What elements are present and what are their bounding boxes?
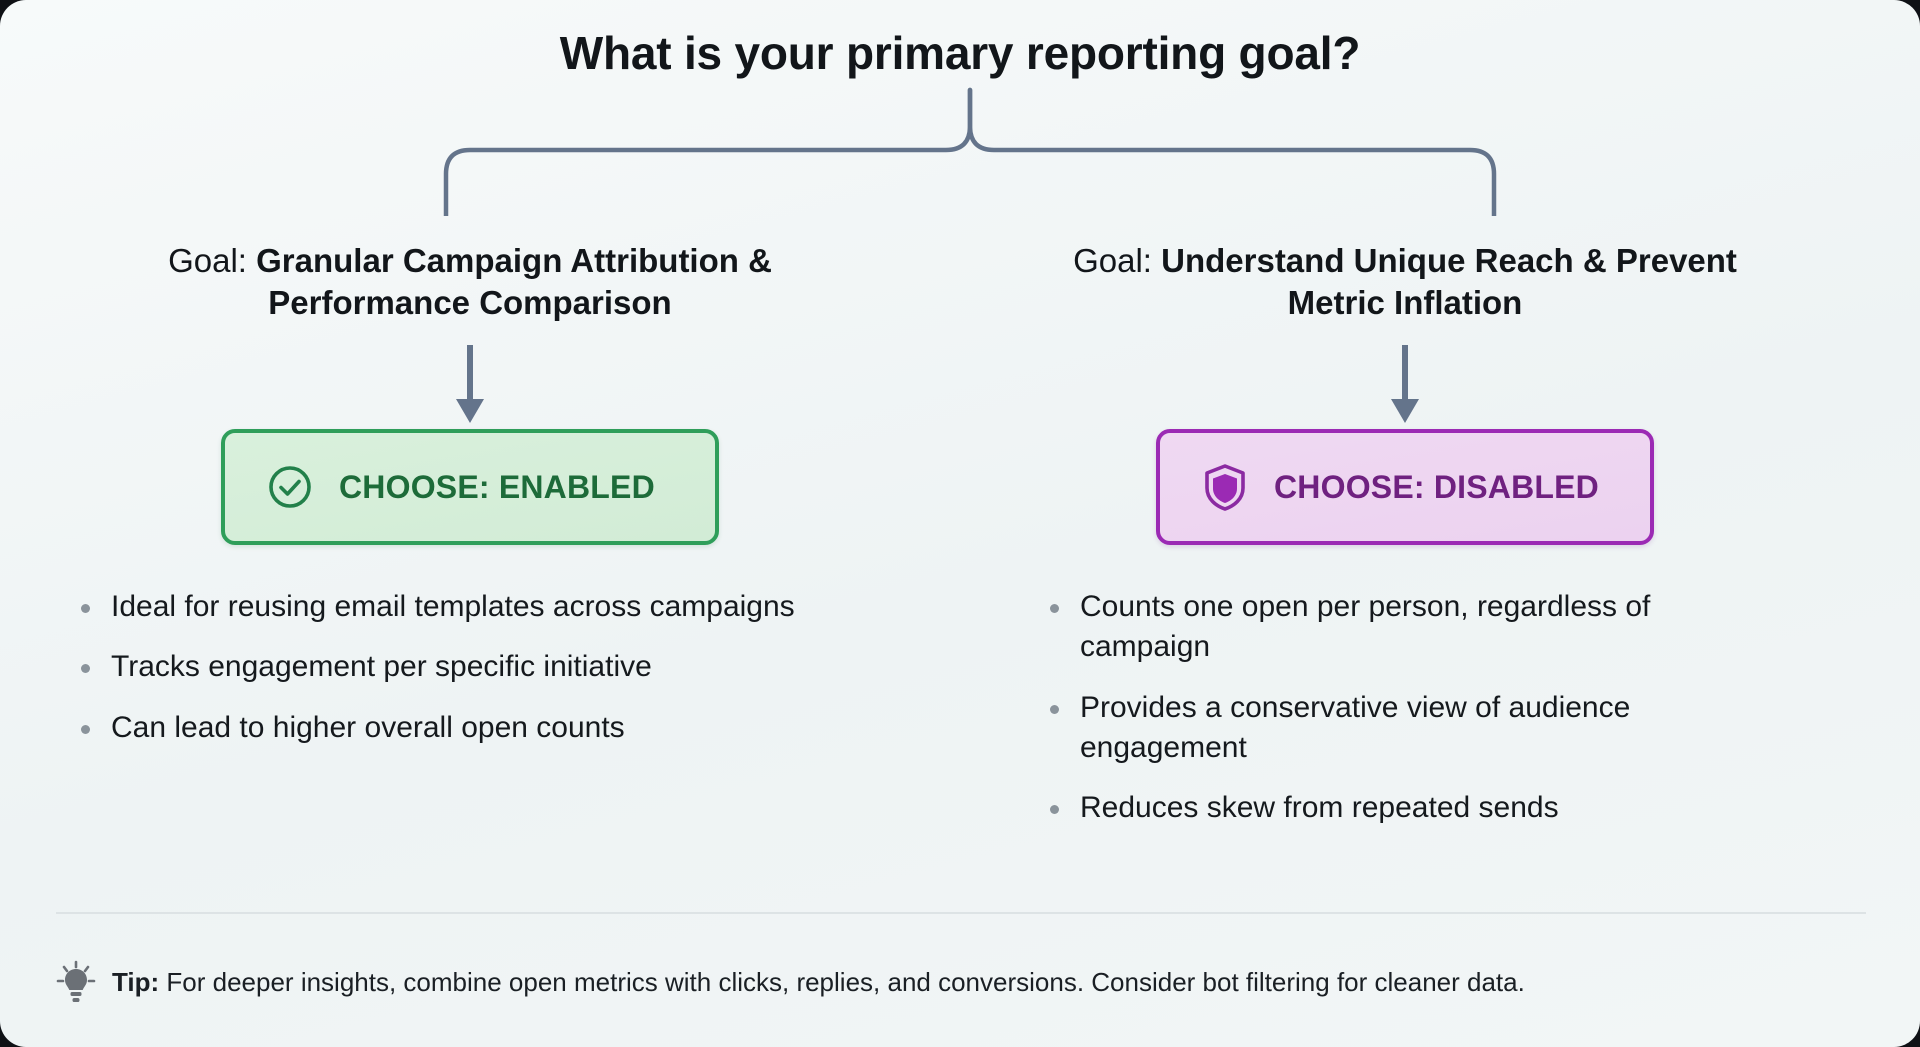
tip-body: For deeper insights, combine open metric… — [159, 967, 1525, 997]
benefit-list-disabled: Counts one open per person, regardless o… — [1000, 587, 1810, 828]
tip-label: Tip: — [112, 967, 159, 997]
footer-divider — [56, 912, 1866, 914]
arrow-down-disabled-wrap — [1000, 339, 1810, 429]
goal-heading-disabled: Goal: Understand Unique Reach & Prevent … — [1000, 240, 1810, 323]
page-title: What is your primary reporting goal? — [0, 26, 1920, 80]
arrow-down-icon — [1388, 343, 1422, 427]
check-circle-icon — [267, 464, 313, 510]
list-item: Reduces skew from repeated sends — [1044, 788, 1774, 828]
benefit-list-enabled: Ideal for reusing email templates across… — [65, 587, 875, 748]
branch-column-disabled: Goal: Understand Unique Reach & Prevent … — [1000, 240, 1810, 848]
list-item: Provides a conservative view of audience… — [1044, 688, 1774, 768]
decision-box-disabled[interactable]: CHOOSE: DISABLED — [1156, 429, 1654, 545]
tip-text: Tip: For deeper insights, combine open m… — [112, 967, 1525, 998]
decision-flow-card: What is your primary reporting goal? Goa… — [0, 0, 1920, 1047]
list-item: Can lead to higher overall open counts — [75, 708, 805, 748]
list-item: Counts one open per person, regardless o… — [1044, 587, 1774, 667]
list-item: Ideal for reusing email templates across… — [75, 587, 805, 627]
goal-title: Granular Campaign Attribution & Performa… — [256, 242, 772, 321]
shield-icon — [1202, 463, 1248, 511]
list-item: Tracks engagement per specific initiativ… — [75, 647, 805, 687]
branch-column-enabled: Goal: Granular Campaign Attribution & Pe… — [65, 240, 875, 768]
goal-prefix: Goal: — [168, 242, 256, 279]
decision-label-enabled: CHOOSE: ENABLED — [339, 469, 655, 506]
arrow-down-icon — [453, 343, 487, 427]
arrow-down-enabled-wrap — [65, 339, 875, 429]
lightbulb-icon — [56, 960, 96, 1004]
goal-prefix: Goal: — [1073, 242, 1161, 279]
goal-heading-enabled: Goal: Granular Campaign Attribution & Pe… — [65, 240, 875, 323]
decision-label-disabled: CHOOSE: DISABLED — [1274, 469, 1599, 506]
goal-title: Understand Unique Reach & Prevent Metric… — [1161, 242, 1737, 321]
decision-box-enabled[interactable]: CHOOSE: ENABLED — [221, 429, 719, 545]
branch-connector — [420, 86, 1520, 216]
tip-footer: Tip: For deeper insights, combine open m… — [56, 960, 1525, 1004]
